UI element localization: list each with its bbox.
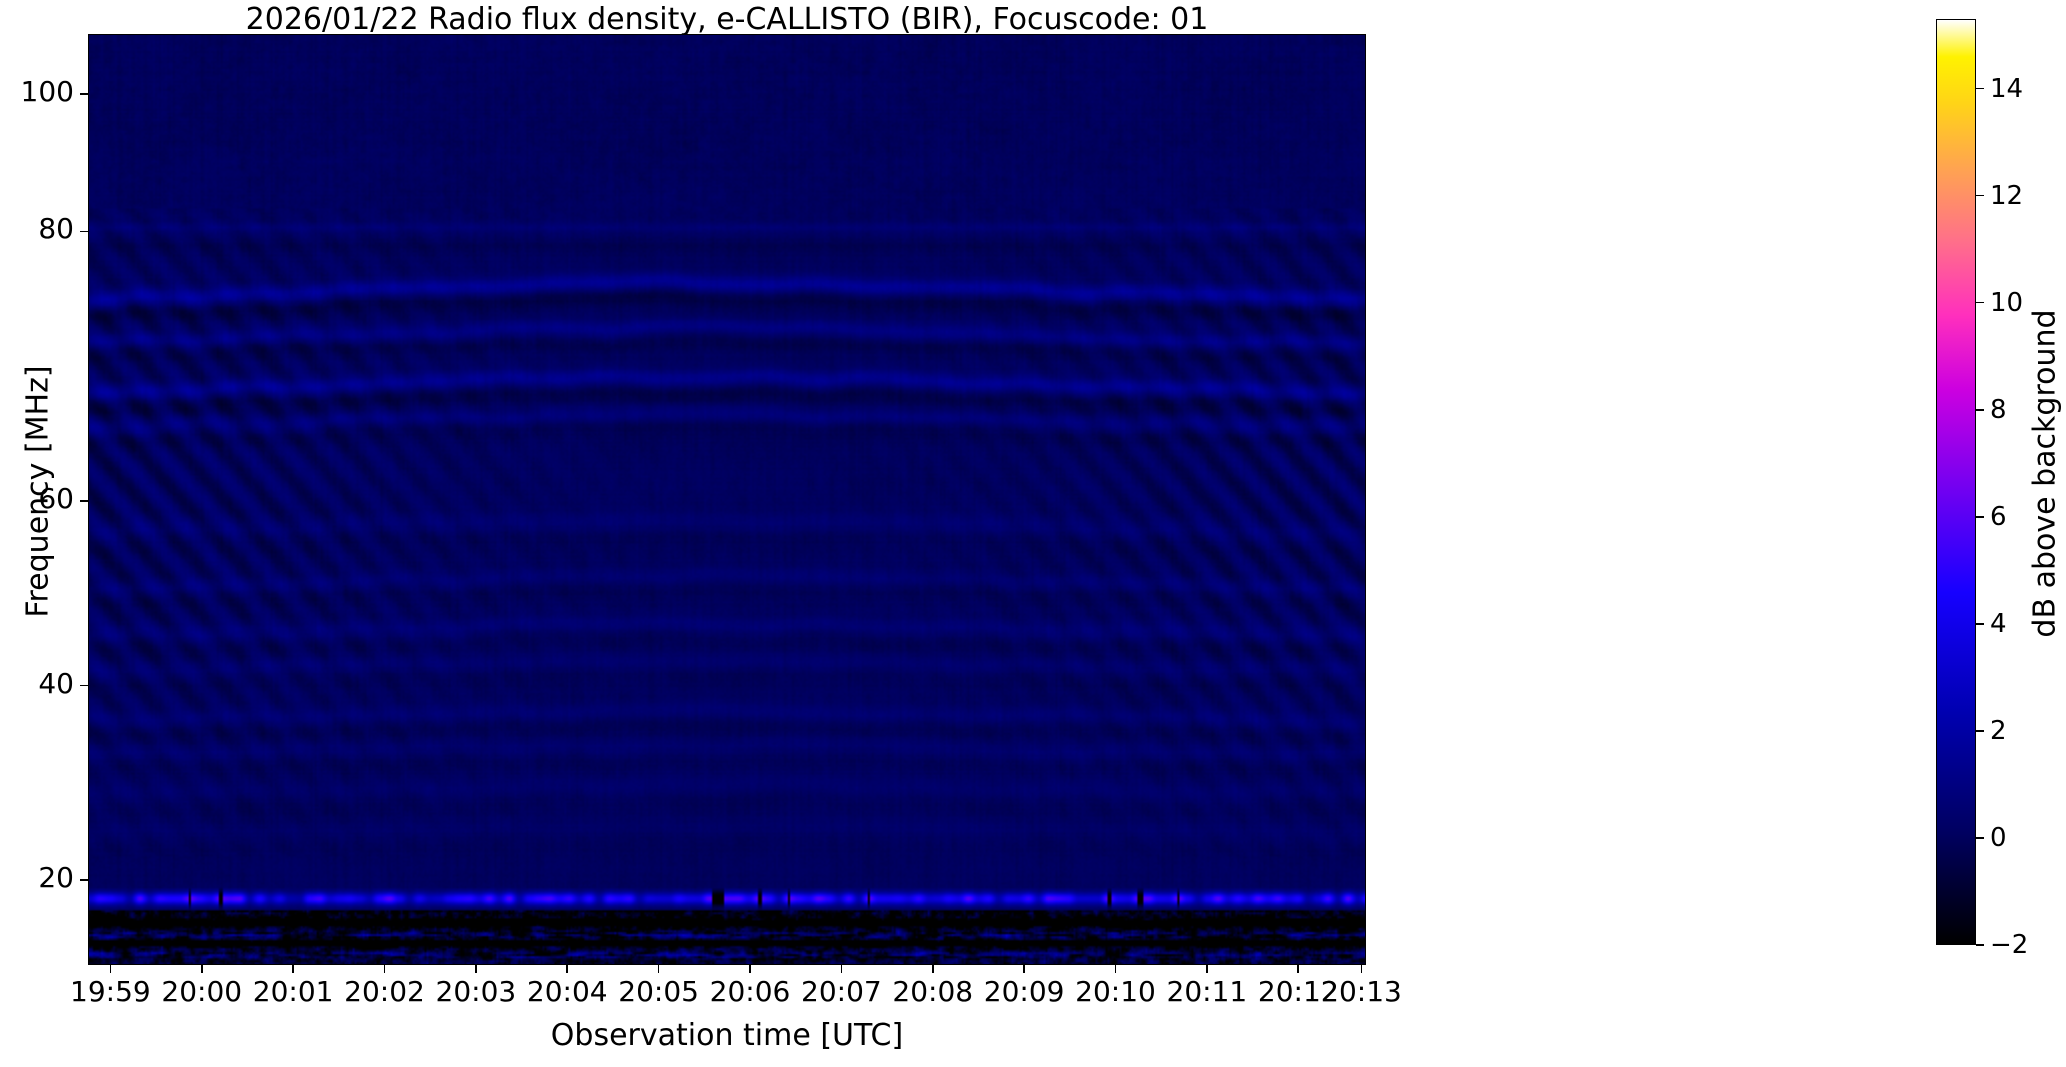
x-tick-mark xyxy=(1115,965,1117,973)
x-tick-label: 20:10 xyxy=(1075,975,1156,1008)
colorbar-tick-label: 8 xyxy=(1990,395,2007,425)
x-tick-mark xyxy=(384,965,386,973)
x-tick-label: 20:05 xyxy=(618,975,699,1008)
x-tick-mark xyxy=(658,965,660,973)
colorbar-tick-label: −2 xyxy=(1990,930,2028,960)
colorbar-tick-label: 6 xyxy=(1990,502,2007,532)
colorbar[interactable] xyxy=(1936,19,1976,945)
x-tick-mark xyxy=(749,965,751,973)
spectrogram-axes[interactable] xyxy=(88,34,1366,965)
x-tick-label: 20:08 xyxy=(892,975,973,1008)
y-tick-mark xyxy=(80,500,88,502)
x-tick-label: 20:11 xyxy=(1167,975,1248,1008)
y-axis-label: Frequency [MHz] xyxy=(21,232,56,752)
colorbar-tick-mark xyxy=(1976,730,1984,732)
x-tick-label: 20:07 xyxy=(801,975,882,1008)
spectrogram-figure: 2026/01/22 Radio flux density, e-CALLIST… xyxy=(0,0,2066,1067)
x-tick-mark xyxy=(292,965,294,973)
colorbar-tick-mark xyxy=(1976,623,1984,625)
x-axis-label: Observation time [UTC] xyxy=(88,1018,1366,1053)
x-tick-mark xyxy=(110,965,112,973)
x-tick-label: 20:13 xyxy=(1321,975,1402,1008)
x-tick-label: 19:59 xyxy=(70,975,151,1008)
colorbar-tick-mark xyxy=(1976,409,1984,411)
x-tick-label: 20:01 xyxy=(253,975,334,1008)
colorbar-tick-mark xyxy=(1976,516,1984,518)
x-tick-label: 20:02 xyxy=(344,975,425,1008)
x-tick-label: 20:09 xyxy=(984,975,1065,1008)
x-tick-mark xyxy=(566,965,568,973)
colorbar-tick-label: 0 xyxy=(1990,823,2007,853)
x-tick-label: 20:03 xyxy=(436,975,517,1008)
x-tick-label: 20:04 xyxy=(527,975,608,1008)
colorbar-tick-label: 2 xyxy=(1990,716,2007,746)
y-tick-label: 20 xyxy=(38,861,74,894)
x-tick-mark xyxy=(475,965,477,973)
colorbar-tick-label: 12 xyxy=(1990,181,2023,211)
x-tick-mark xyxy=(932,965,934,973)
x-tick-mark xyxy=(1206,965,1208,973)
colorbar-tick-label: 4 xyxy=(1990,609,2007,639)
colorbar-tick-mark xyxy=(1976,195,1984,197)
spectrogram-image xyxy=(89,35,1365,964)
colorbar-label: dB above background xyxy=(2028,28,2063,920)
colorbar-label-wrap: dB above background xyxy=(2028,19,2062,945)
y-axis-label-wrap: Frequency [MHz] xyxy=(10,34,40,965)
x-tick-mark xyxy=(1361,965,1363,973)
colorbar-tick-mark xyxy=(1976,837,1984,839)
x-tick-mark xyxy=(841,965,843,973)
x-tick-mark xyxy=(201,965,203,973)
page-title: 2026/01/22 Radio flux density, e-CALLIST… xyxy=(88,2,1366,37)
x-tick-mark xyxy=(1297,965,1299,973)
y-tick-mark xyxy=(80,231,88,233)
colorbar-tick-mark xyxy=(1976,88,1984,90)
y-tick-mark xyxy=(80,93,88,95)
x-tick-mark xyxy=(1023,965,1025,973)
colorbar-tick-label: 14 xyxy=(1990,74,2023,104)
x-tick-label: 20:06 xyxy=(710,975,791,1008)
colorbar-tick-mark xyxy=(1976,944,1984,946)
colorbar-tick-mark xyxy=(1976,302,1984,304)
y-tick-mark xyxy=(80,879,88,881)
x-tick-label: 20:00 xyxy=(161,975,242,1008)
colorbar-tick-label: 10 xyxy=(1990,288,2023,318)
colorbar-gradient xyxy=(1937,20,1975,944)
y-tick-mark xyxy=(80,685,88,687)
